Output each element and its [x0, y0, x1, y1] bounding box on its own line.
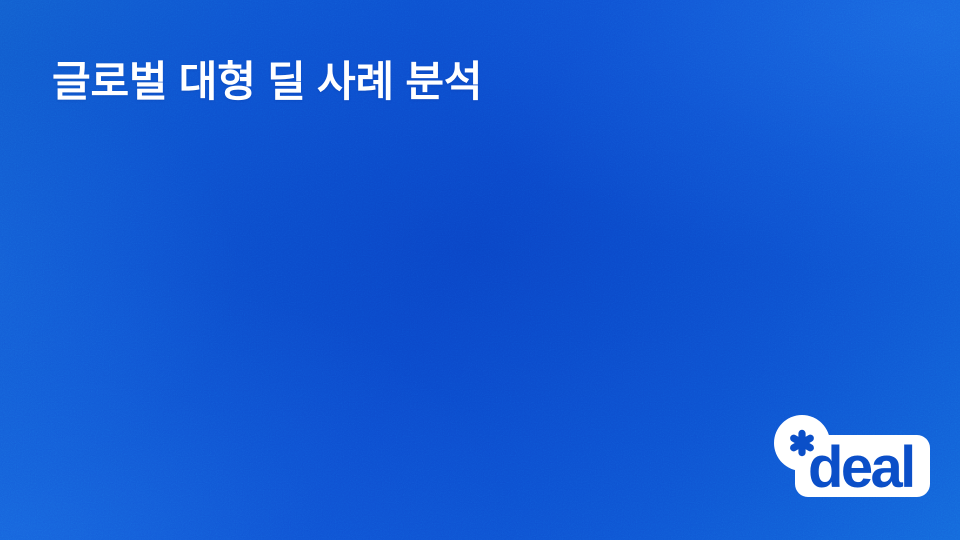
- brand-logo[interactable]: deal: [772, 410, 934, 502]
- title-block: 글로벌 대형 딜 사례 분석: [52, 56, 872, 108]
- page-title: 글로벌 대형 딜 사례 분석: [52, 56, 872, 108]
- slide-canvas: 글로벌 대형 딜 사례 분석 deal: [0, 0, 960, 540]
- logo-wordmark: deal: [808, 435, 914, 500]
